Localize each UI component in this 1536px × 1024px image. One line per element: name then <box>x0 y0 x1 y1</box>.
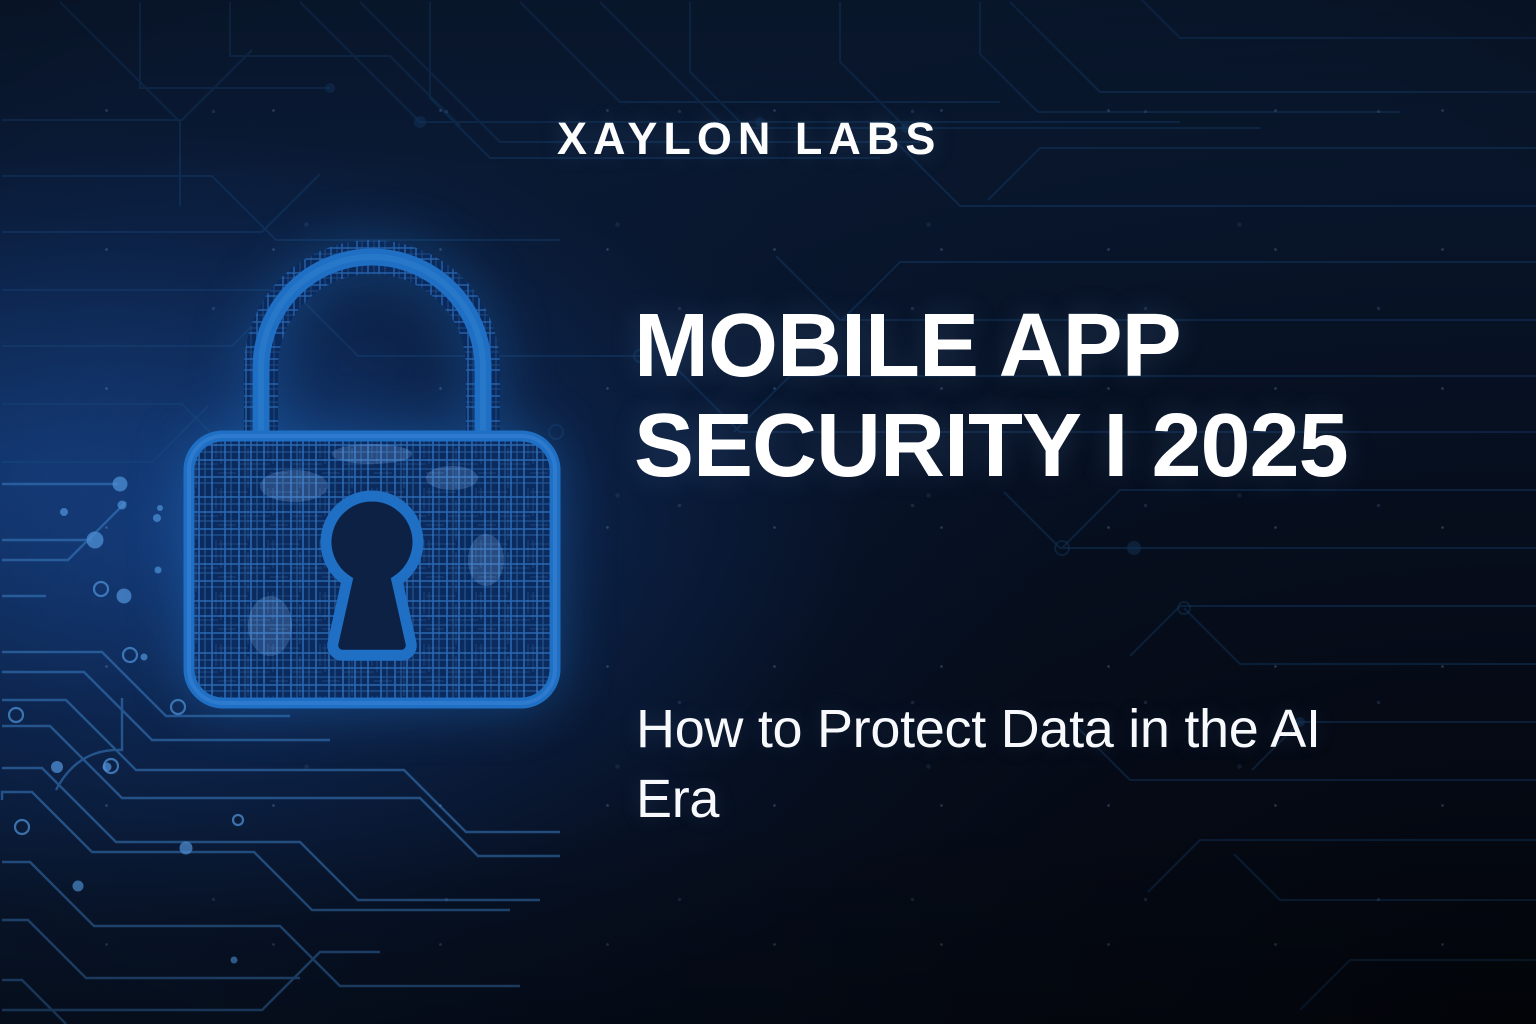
promo-banner: XAYLON LABS MOBILE APP SECURITY I 2025 H… <box>0 0 1536 1024</box>
page-subtitle: How to Protect Data in the AI Era <box>636 694 1336 834</box>
page-title: MOBILE APP SECURITY I 2025 <box>634 296 1394 497</box>
brand-name: XAYLON LABS <box>557 113 941 165</box>
